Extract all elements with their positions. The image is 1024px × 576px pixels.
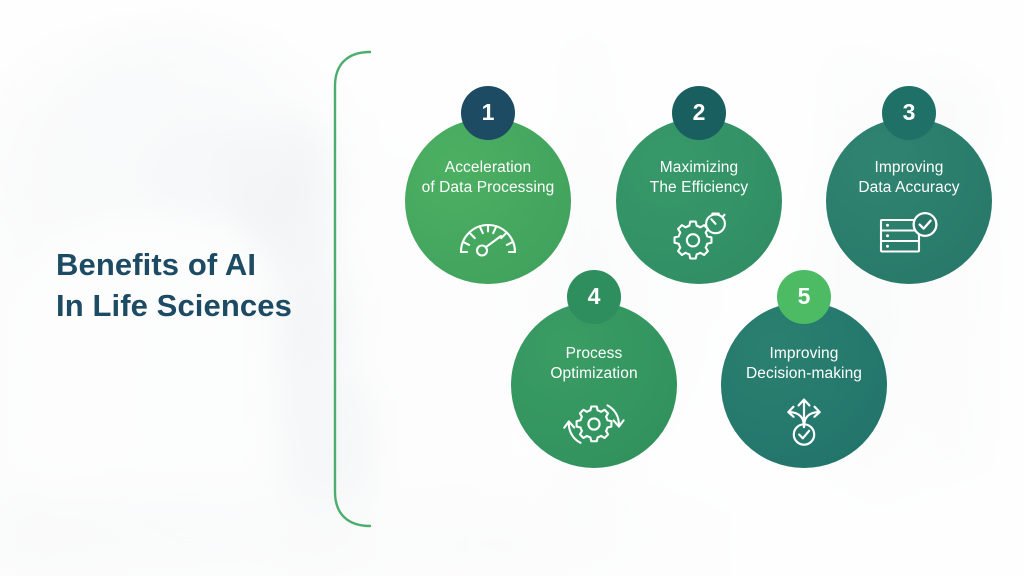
page-title: Benefits of AI In Life Sciences — [56, 244, 356, 326]
lab-bench-silhouette — [0, 492, 360, 576]
benefit-node-3-label-line-2: Data Accuracy — [826, 178, 992, 198]
benefit-node-1-label-line-1: Acceleration — [405, 158, 571, 178]
benefit-node-3-label-line-1: Improving — [826, 158, 992, 178]
benefit-node-4-label-line-1: Process — [511, 344, 677, 364]
benefit-node-2-label-line-2: The Efficiency — [616, 178, 782, 198]
benefit-node-5-label: Improving Decision-making — [721, 344, 887, 385]
page-title-line-1: Benefits of AI — [56, 244, 356, 285]
gear-refresh-icon — [561, 398, 627, 450]
benefit-node-2-number-badge: 2 — [672, 86, 726, 140]
scientist-hairnet-silhouette — [70, 35, 285, 210]
slide-canvas: Benefits of AI In Life Sciences 1 Accele… — [0, 0, 1024, 576]
benefit-node-2[interactable]: 2 Maximizing The Efficiency — [616, 118, 782, 284]
benefit-node-1-number-badge: 1 — [461, 86, 515, 140]
benefit-node-5-number: 5 — [798, 285, 811, 308]
page-title-line-2: In Life Sciences — [56, 285, 356, 326]
benefit-node-4-number: 4 — [588, 285, 601, 308]
benefit-node-2-label-line-1: Maximizing — [616, 158, 782, 178]
benefit-node-4-label-line-2: Optimization — [511, 364, 677, 384]
benefit-node-1-number: 1 — [482, 101, 495, 124]
benefit-node-1-label-line-2: of Data Processing — [405, 178, 571, 198]
benefit-node-3-number: 3 — [903, 101, 916, 124]
speedometer-icon — [456, 214, 520, 258]
gear-stopwatch-icon — [668, 210, 730, 262]
benefit-node-5-label-line-2: Decision-making — [721, 364, 887, 384]
scientist-face-silhouette — [150, 120, 265, 250]
benefit-node-1[interactable]: 1 Acceleration of Data Processing — [405, 118, 571, 284]
benefit-node-2-number: 2 — [693, 101, 706, 124]
benefit-node-5-label-line-1: Improving — [721, 344, 887, 364]
benefit-node-3[interactable]: 3 Improving Data Accuracy — [826, 118, 992, 284]
decision-arrows-check-icon — [776, 394, 832, 448]
benefit-node-3-number-badge: 3 — [882, 86, 936, 140]
benefit-node-4-number-badge: 4 — [567, 270, 621, 324]
benefit-node-5-number-badge: 5 — [777, 270, 831, 324]
benefit-node-4-label: Process Optimization — [511, 344, 677, 385]
benefit-node-3-label: Improving Data Accuracy — [826, 158, 992, 199]
benefit-node-4[interactable]: 4 Process Optimization — [511, 302, 677, 468]
benefit-node-5[interactable]: 5 Improving Decision-making — [721, 302, 887, 468]
benefit-node-1-label: Acceleration of Data Processing — [405, 158, 571, 199]
benefit-node-2-label: Maximizing The Efficiency — [616, 158, 782, 199]
server-check-icon — [876, 212, 942, 260]
